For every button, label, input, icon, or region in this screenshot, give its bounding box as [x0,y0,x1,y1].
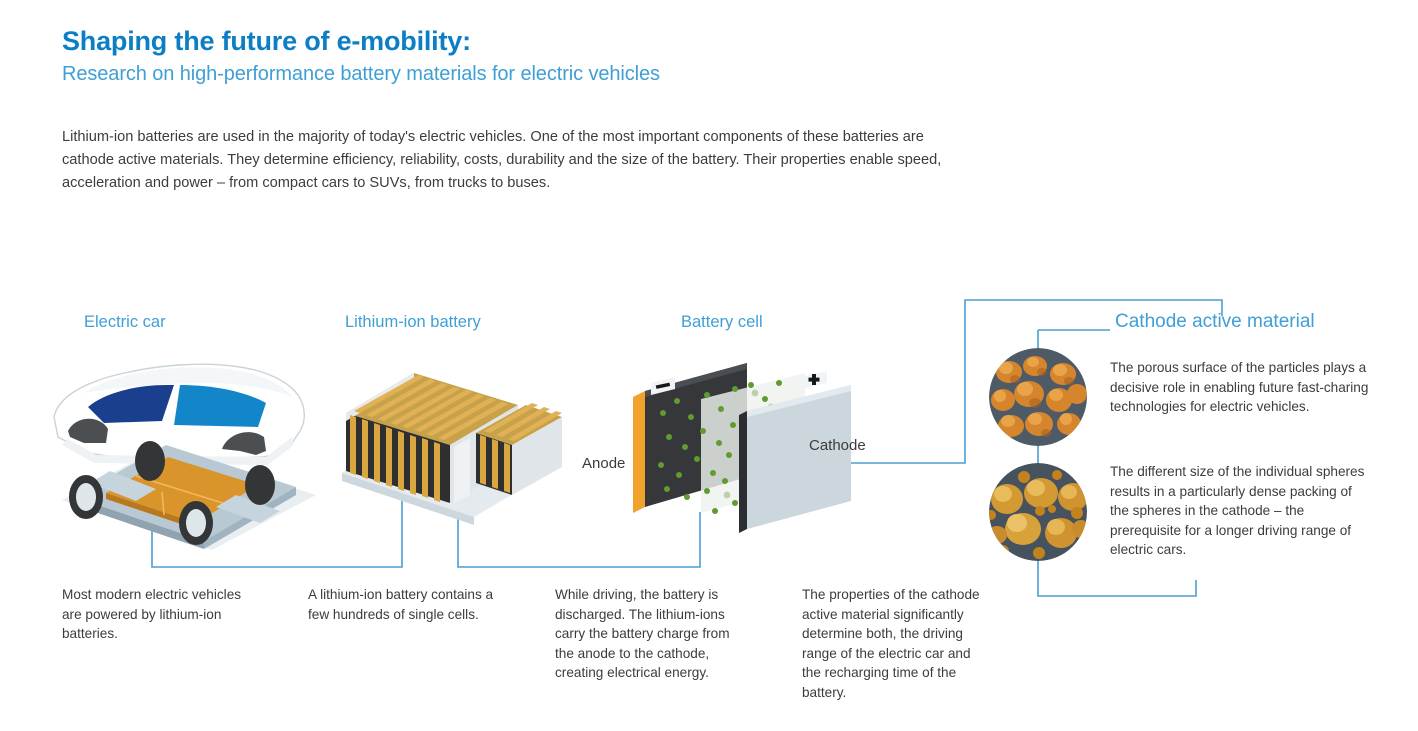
section-title-electric-car: Electric car [84,313,166,332]
infographic-page: Shaping the future of e-mobility: Resear… [0,0,1418,731]
sem-micrograph-dense-spheres [989,463,1087,561]
section-title-cathode-active-material: Cathode active material [1115,311,1315,333]
caption-battery-cell: While driving, the battery is discharged… [555,585,745,683]
electric-car-illustration [44,345,334,550]
cathode-label: Cathode [809,437,866,454]
caption-electric-car: Most modern electric vehicles are powere… [62,585,247,644]
cathode-material-text-1: The porous surface of the particles play… [1110,358,1372,417]
caption-cathode-properties: The properties of the cathode active mat… [802,585,982,702]
section-title-lithium-ion-battery: Lithium-ion battery [345,313,481,332]
section-title-battery-cell: Battery cell [681,313,763,332]
caption-lithium-ion-battery: A lithium-ion battery contains a few hun… [308,585,503,624]
anode-label: Anode [582,455,625,472]
lithium-ion-battery-illustration [336,355,576,545]
cathode-material-text-2: The different size of the individual sph… [1110,462,1372,560]
sem-micrograph-porous-particles [989,348,1087,446]
